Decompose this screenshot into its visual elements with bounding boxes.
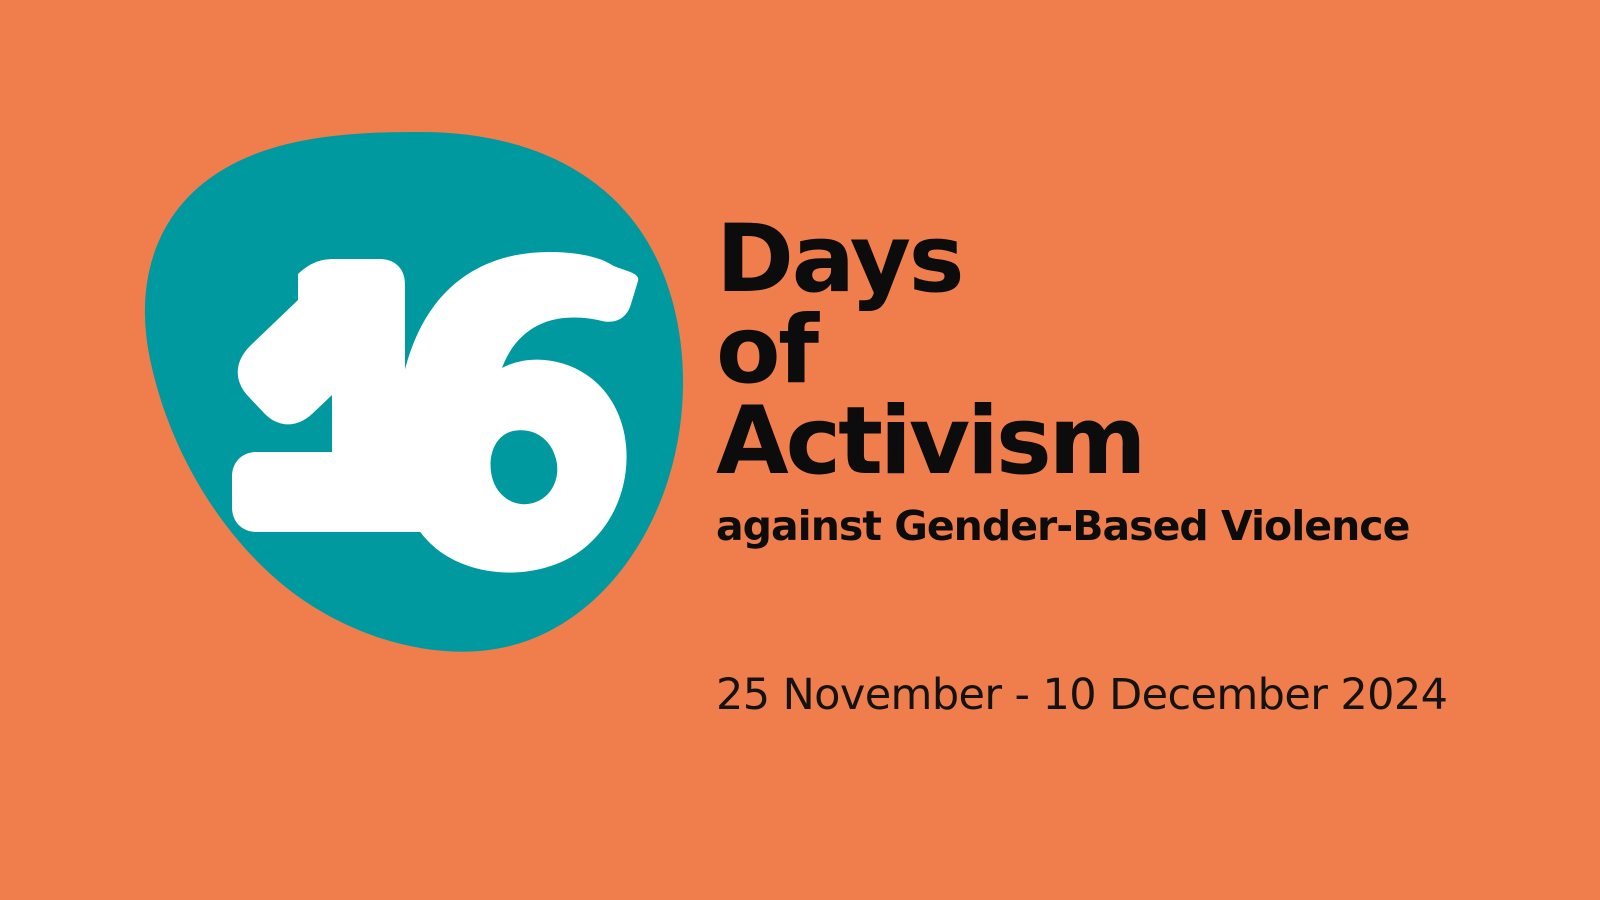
campaign-poster: Days of Activism against Gender-Based Vi…: [0, 0, 1600, 900]
date-range-text: 25 November - 10 December 2024: [716, 672, 1447, 719]
headline-line-of: of: [716, 305, 1536, 396]
headline-line-days: Days: [716, 214, 1536, 305]
headline-line-activism: Activism: [716, 396, 1536, 487]
teal-blob-shape: [120, 115, 700, 665]
headline-block: Days of Activism against Gender-Based Vi…: [716, 214, 1536, 549]
subtitle-text: against Gender-Based Violence: [716, 504, 1536, 549]
sixteen-badge: [120, 115, 700, 665]
